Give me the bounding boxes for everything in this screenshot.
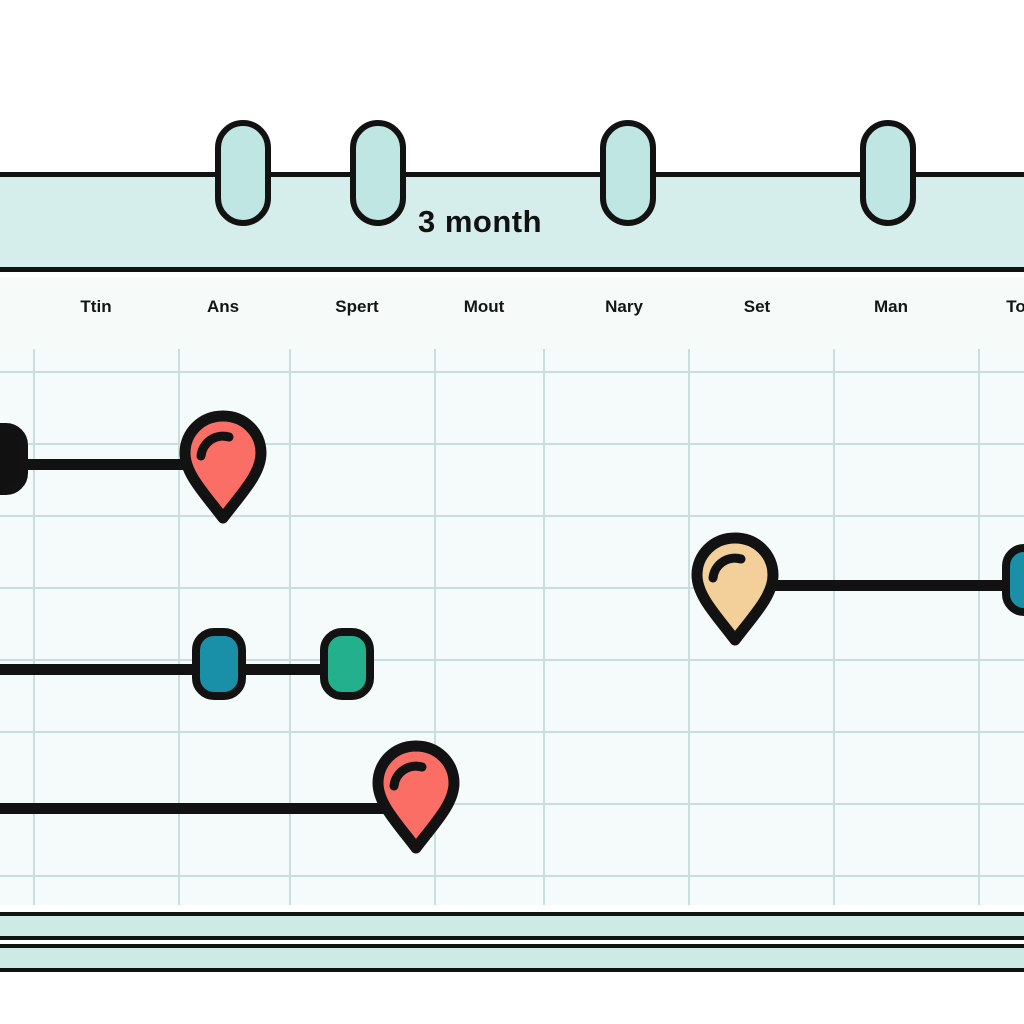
scale-handle-1[interactable] <box>215 120 271 226</box>
gridline-horizontal-5 <box>0 731 1024 733</box>
gridline-vertical-4 <box>543 349 545 905</box>
map-pin-marker-3-0[interactable] <box>368 738 464 854</box>
scale-handle-4[interactable] <box>860 120 916 226</box>
column-header-ttin[interactable]: Ttin <box>80 297 111 317</box>
gantt-timeline-app: 3 month TtinAnsSpertMoutNarySetManTo <box>0 0 1024 1024</box>
gridline-vertical-6 <box>833 349 835 905</box>
scale-range-label: 3 month <box>418 204 542 240</box>
gridline-horizontal-7 <box>0 875 1024 877</box>
scale-handle-3[interactable] <box>600 120 656 226</box>
column-header-mout[interactable]: Mout <box>464 297 505 317</box>
map-pin-marker-0-1[interactable] <box>175 408 271 524</box>
task-bar-row-3[interactable] <box>0 664 345 675</box>
column-header-to[interactable]: To <box>1006 297 1024 317</box>
map-pin-marker-1-0[interactable] <box>687 530 783 646</box>
bottom-margin <box>0 982 1024 1024</box>
column-header-ans[interactable]: Ans <box>207 297 239 317</box>
column-header-nary[interactable]: Nary <box>605 297 643 317</box>
node-capsule-marker-1-1[interactable] <box>1002 544 1024 616</box>
gridline-horizontal-1 <box>0 443 1024 445</box>
node-capsule-marker-0-0[interactable] <box>0 423 28 495</box>
footer-bar-1 <box>0 912 1024 940</box>
scale-handle-2[interactable] <box>350 120 406 226</box>
gridline-vertical-0 <box>33 349 35 905</box>
column-header-man[interactable]: Man <box>874 297 908 317</box>
gridline-horizontal-4 <box>0 659 1024 661</box>
gridline-horizontal-2 <box>0 515 1024 517</box>
footer-bar-2 <box>0 944 1024 972</box>
gridline-vertical-7 <box>978 349 980 905</box>
column-header-spert[interactable]: Spert <box>335 297 378 317</box>
task-bar-row-4[interactable] <box>0 803 420 814</box>
node-capsule-marker-2-0[interactable] <box>192 628 246 700</box>
column-header-row: TtinAnsSpertMoutNarySetManTo <box>0 277 1024 349</box>
gridline-vertical-2 <box>289 349 291 905</box>
chart-grid-body <box>0 349 1024 905</box>
node-capsule-marker-2-1[interactable] <box>320 628 374 700</box>
gridline-horizontal-0 <box>0 371 1024 373</box>
column-header-set[interactable]: Set <box>744 297 770 317</box>
